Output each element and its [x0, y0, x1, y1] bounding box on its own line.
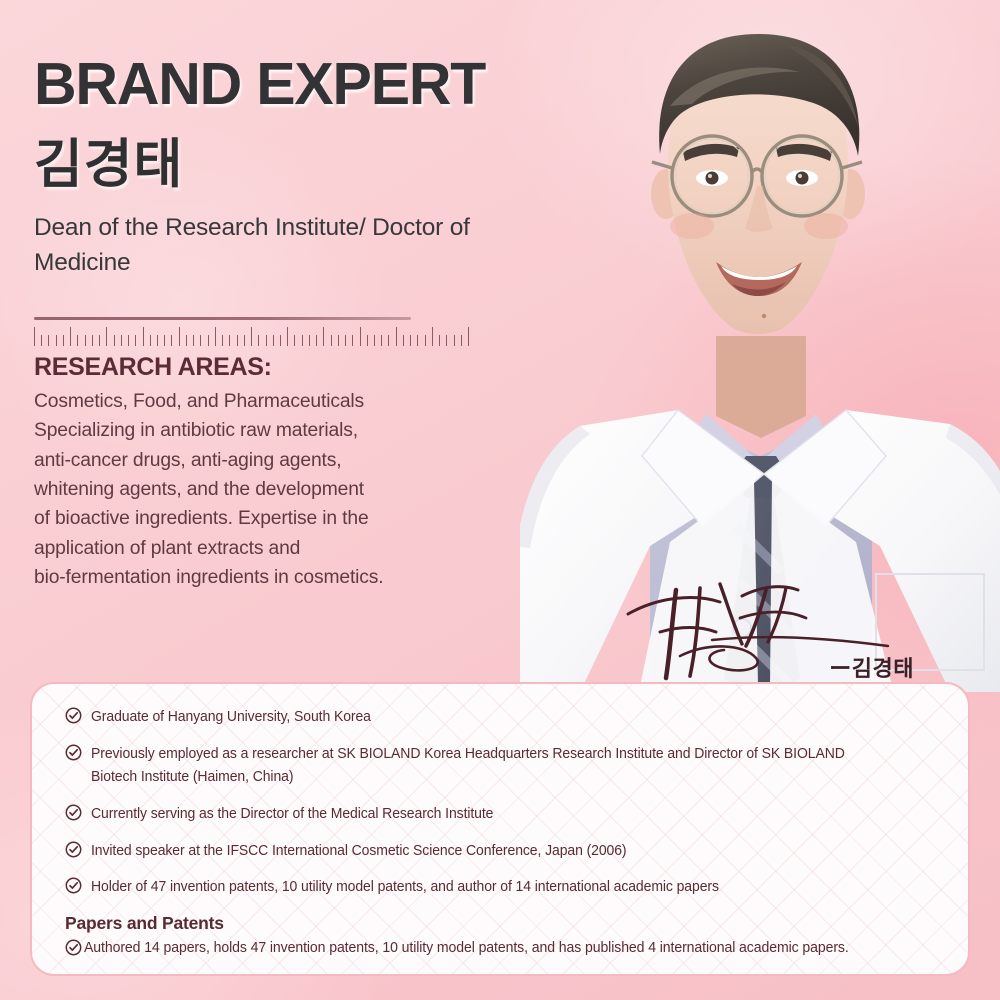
ruler-tick-minor [381, 335, 382, 346]
ruler-tick-major [468, 327, 469, 346]
ruler-tick-minor [135, 335, 136, 346]
papers-and-patents-heading: Papers and Patents [65, 913, 942, 934]
ruler-tick-minor [331, 335, 332, 346]
ruler-tick-minor [338, 335, 339, 346]
ruler-tick-major [287, 327, 288, 346]
ruler-tick-minor [309, 335, 310, 346]
person-name: 김경태 [34, 136, 504, 194]
ruler-tick-minor [403, 335, 404, 346]
research-areas-heading: RESEARCH AREAS: [34, 353, 504, 382]
ruler-tick-minor [85, 335, 86, 346]
ruler-tick-minor [193, 335, 194, 346]
ruler-tick-major [34, 327, 35, 346]
ruler-tick-major [106, 327, 107, 346]
ruler-tick-minor [41, 335, 42, 346]
list-item-label: Previously employed as a researcher at S… [91, 743, 845, 790]
list-item-label: Holder of 47 invention patents, 10 utili… [91, 876, 719, 900]
ruler-tick-minor [302, 335, 303, 346]
ruler-tick-minor [237, 335, 238, 346]
ruler-tick-major [360, 327, 361, 346]
ruler-tick-minor [273, 335, 274, 346]
ruler-tick-minor [128, 335, 129, 346]
ruler-tick-minor [244, 335, 245, 346]
ruler-tick-minor [77, 335, 78, 346]
ruler-tick-minor [425, 335, 426, 346]
ruler-tick-minor [171, 335, 172, 346]
ruler-tick-major [251, 327, 252, 346]
ruler-tick-minor [99, 335, 100, 346]
ruler-tick-minor [446, 335, 447, 346]
check-circle-icon [65, 804, 82, 821]
ruler-tick-minor [56, 335, 57, 346]
check-circle-icon [65, 707, 82, 724]
ruler-tick-major [179, 327, 180, 346]
ruler-tick-minor [417, 335, 418, 346]
check-circle-icon [65, 939, 82, 956]
ruler-tick-minor [222, 335, 223, 346]
ruler-tick-minor [352, 335, 353, 346]
ruler-tick-major [215, 327, 216, 346]
ruler-tick-minor [229, 335, 230, 346]
ruler-tick-minor [461, 335, 462, 346]
ruler-tick-minor [157, 335, 158, 346]
ruler-ticks [34, 326, 411, 346]
list-item: Graduate of Hanyang University, South Ko… [65, 706, 942, 730]
ruler-tick-minor [316, 335, 317, 346]
list-item: Authored 14 papers, holds 47 invention p… [65, 937, 942, 960]
list-item: Invited speaker at the IFSCC Internation… [65, 840, 942, 864]
ruler-tick-minor [367, 335, 368, 346]
list-item-label: Currently serving as the Director of the… [91, 803, 493, 827]
credentials-card: Graduate of Hanyang University, South Ko… [30, 682, 970, 976]
divider-line [34, 317, 411, 320]
ruler-tick-minor [294, 335, 295, 346]
list-item: Holder of 47 invention patents, 10 utili… [65, 876, 942, 900]
ruler-tick-minor [164, 335, 165, 346]
ruler-tick-major [323, 327, 324, 346]
ruler-tick-major [70, 327, 71, 346]
ruler-tick-minor [114, 335, 115, 346]
ruler-tick-minor [258, 335, 259, 346]
ruler-tick-minor [345, 335, 346, 346]
ruler-tick-major [143, 327, 144, 346]
ruler-tick-minor [200, 335, 201, 346]
ruler-tick-minor [280, 335, 281, 346]
divider [34, 317, 411, 346]
info-column: BRAND EXPERT 김경태 Dean of the Research In… [34, 0, 504, 592]
signature-attribution: ー김경태 [829, 651, 914, 683]
ruler-tick-minor [150, 335, 151, 346]
list-item-label: Graduate of Hanyang University, South Ko… [91, 706, 371, 730]
ruler-tick-minor [92, 335, 93, 346]
ruler-tick-minor [439, 335, 440, 346]
ruler-tick-minor [374, 335, 375, 346]
ruler-tick-minor [454, 335, 455, 346]
signature-block: ー김경태 [616, 578, 916, 686]
ruler-tick-minor [266, 335, 267, 346]
research-areas-body: Cosmetics, Food, and Pharmaceuticals Spe… [34, 387, 504, 592]
check-circle-icon [65, 841, 82, 858]
list-item-label: Invited speaker at the IFSCC Internation… [91, 840, 627, 864]
ruler-tick-minor [208, 335, 209, 346]
check-circle-icon [65, 877, 82, 894]
ruler-tick-minor [388, 335, 389, 346]
ruler-tick-minor [121, 335, 122, 346]
list-item-label: Authored 14 papers, holds 47 invention p… [84, 937, 849, 960]
page-title: BRAND EXPERT [34, 54, 504, 114]
ruler-tick-minor [63, 335, 64, 346]
list-item: Previously employed as a researcher at S… [65, 743, 942, 790]
person-role: Dean of the Research Institute/ Doctor o… [34, 211, 504, 281]
ruler-tick-major [432, 327, 433, 346]
ruler-tick-minor [48, 335, 49, 346]
credentials-list: Graduate of Hanyang University, South Ko… [65, 706, 942, 900]
ruler-tick-minor [410, 335, 411, 346]
ruler-tick-minor [186, 335, 187, 346]
ruler-tick-major [396, 327, 397, 346]
list-item: Currently serving as the Director of the… [65, 803, 942, 827]
check-circle-icon [65, 744, 82, 761]
